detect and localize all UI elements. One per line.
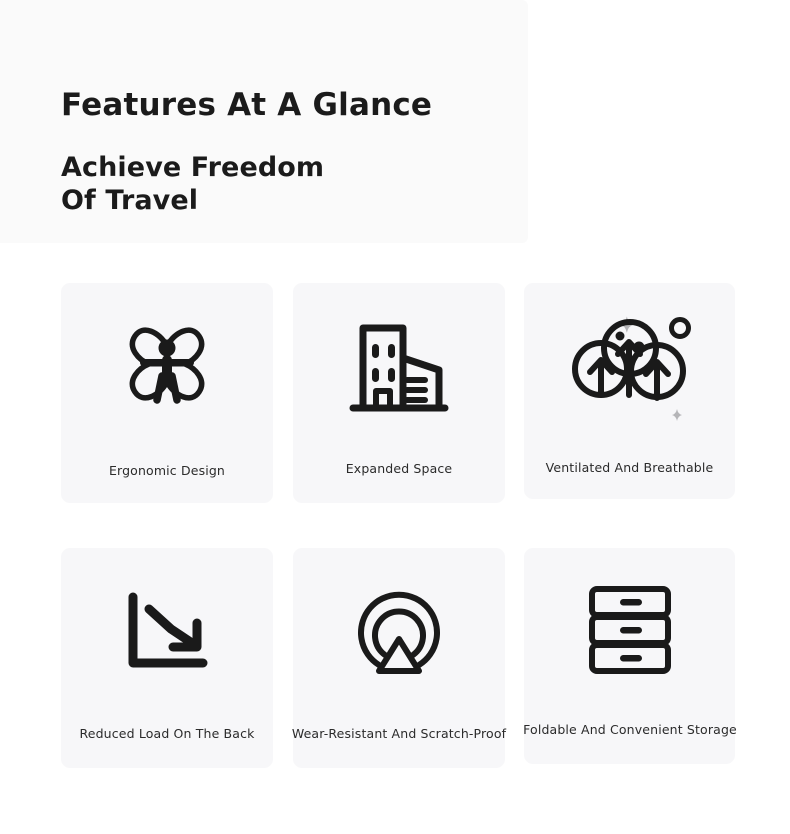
shield-arcs-icon xyxy=(293,580,505,685)
feature-card-reduced-load[interactable]: Reduced Load On The Back xyxy=(61,548,273,768)
feature-label: Wear-Resistant And Scratch-Proof xyxy=(284,726,514,741)
feature-label: Expanded Space xyxy=(293,461,505,476)
airflow-clouds-icon xyxy=(524,303,735,428)
feature-card-foldable-storage[interactable]: Foldable And Convenient Storage xyxy=(524,548,735,764)
feature-label: Reduced Load On The Back xyxy=(61,726,273,741)
building-expansion-icon xyxy=(293,313,505,418)
declining-arrow-icon xyxy=(61,578,273,688)
feature-card-wear-resistant[interactable]: Wear-Resistant And Scratch-Proof xyxy=(293,548,505,768)
feature-label: Ventilated And Breathable xyxy=(524,460,735,475)
feature-card-expanded-space[interactable]: Expanded Space xyxy=(293,283,505,503)
page-title: Features At A Glance xyxy=(61,88,432,122)
page-subtitle: Achieve Freedom Of Travel xyxy=(61,152,481,218)
feature-card-ventilated-breathable[interactable]: Ventilated And Breathable xyxy=(524,283,735,499)
stacked-drawers-icon xyxy=(524,580,735,680)
feature-card-ergonomic-design[interactable]: Ergonomic Design xyxy=(61,283,273,503)
feature-label: Ergonomic Design xyxy=(61,463,273,478)
feature-label: Foldable And Convenient Storage xyxy=(505,722,755,737)
ergonomic-butterfly-icon xyxy=(61,311,273,421)
